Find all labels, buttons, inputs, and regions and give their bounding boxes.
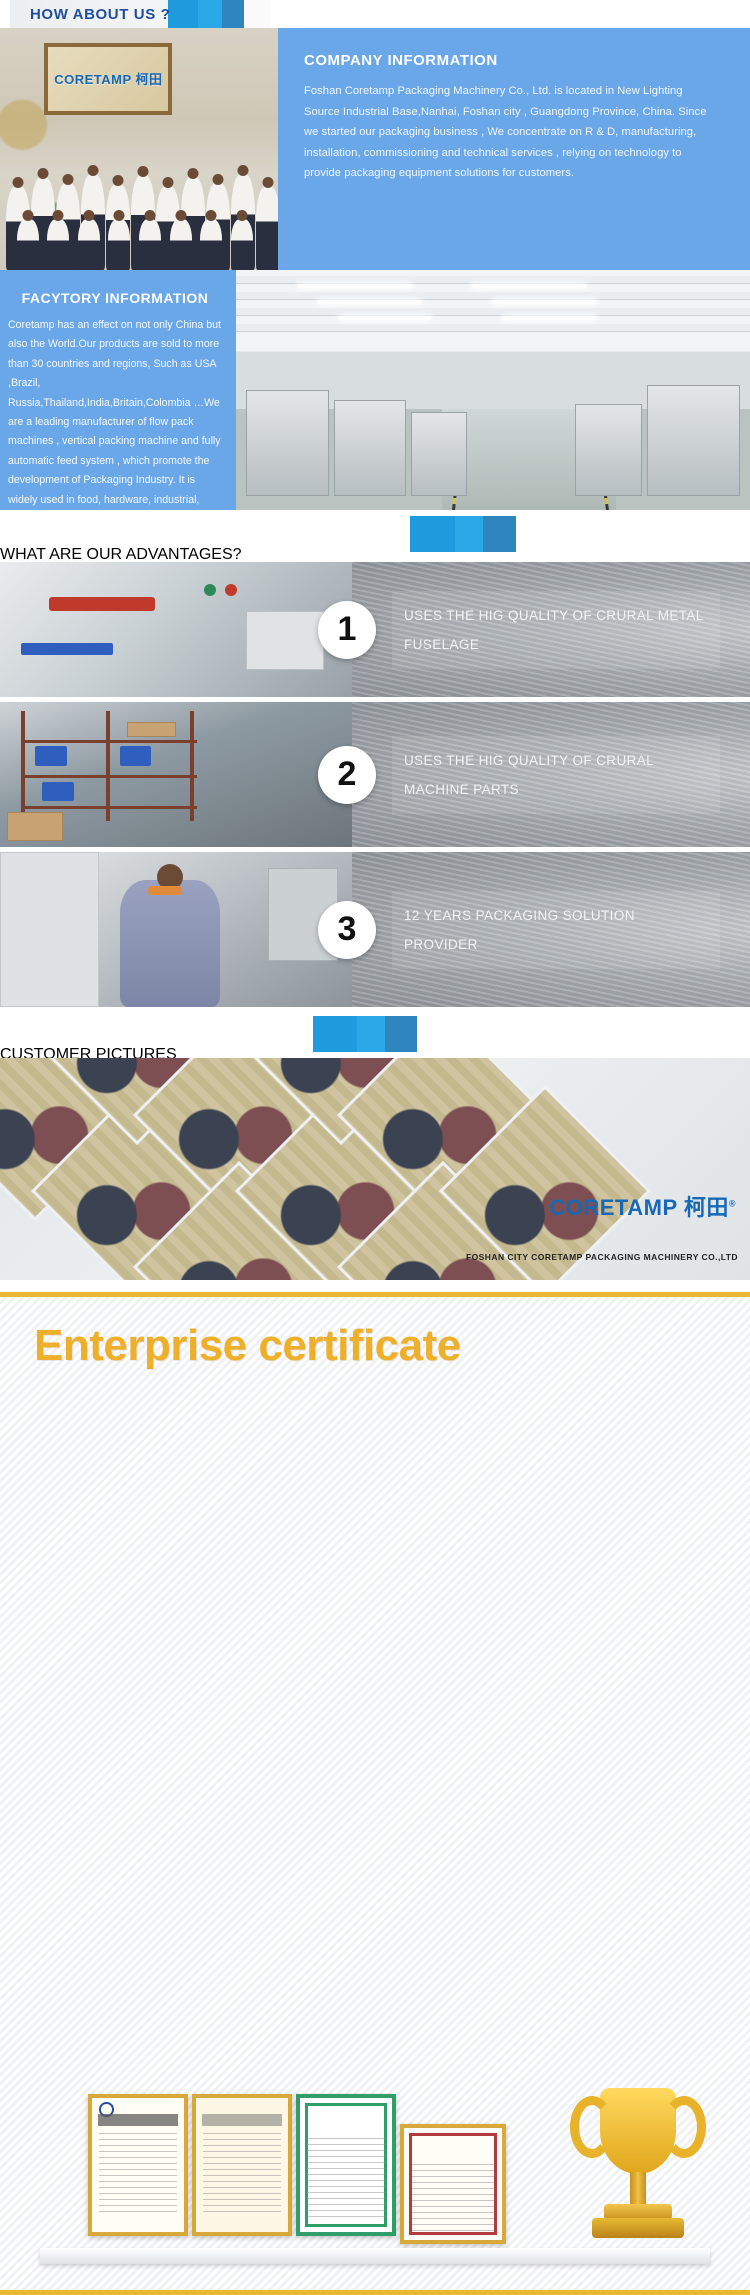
customer-accent-square-2 xyxy=(357,1016,385,1052)
company-information-body: Foshan Coretamp Packaging Machinery Co.,… xyxy=(304,81,720,184)
factory-information-section: FACYTORY INFORMATION Coretamp has an eff… xyxy=(0,270,750,510)
advantage-2-text: USES THE HIG QUALITY OF CRURAL MACHINE P… xyxy=(392,736,720,814)
advantage-1-text: USES THE HIG QUALITY OF CRURAL METAL FUS… xyxy=(392,591,720,669)
company-information-panel: COMPANY INFORMATION Foshan Coretamp Pack… xyxy=(278,28,750,270)
customer-pictures-banner: CUSTOMER PICTURES xyxy=(0,1010,750,1058)
wall-logo-text: CORETAMP 柯田 xyxy=(54,69,162,88)
coretamp-logo: CORETAMP 柯田® xyxy=(549,1190,736,1222)
advantage-row-1: 1 USES THE HIG QUALITY OF CRURAL METAL F… xyxy=(0,562,750,697)
company-information-section: CORETAMP 柯田 COMPANY INFORMATION Fosha xyxy=(0,28,750,270)
factory-information-heading: FACYTORY INFORMATION xyxy=(8,290,222,306)
how-about-us-title: HOW ABOUT US ? xyxy=(30,0,170,28)
certificate-document xyxy=(192,2094,292,2236)
certificate-shelf xyxy=(40,2248,710,2264)
advantages-accent-square-1 xyxy=(410,516,455,552)
advantage-1-panel: 1 USES THE HIG QUALITY OF CRURAL METAL F… xyxy=(352,562,750,697)
factory-interior-photo xyxy=(236,270,750,510)
customer-accent-square-3 xyxy=(385,1016,417,1052)
company-information-heading: COMPANY INFORMATION xyxy=(304,52,720,69)
advantages-banner-background xyxy=(0,510,750,546)
advantages-accent-square-3 xyxy=(483,516,516,552)
wall-logo: CORETAMP 柯田 xyxy=(44,43,172,116)
customer-pictures-collage: CORETAMP 柯田® FOSHAN CITY CORETAMP PACKAG… xyxy=(0,1058,750,1280)
crowd-figures xyxy=(0,120,278,270)
advantage-2-number: 2 xyxy=(318,746,376,804)
advantage-1-number: 1 xyxy=(318,601,376,659)
factory-information-panel: FACYTORY INFORMATION Coretamp has an eff… xyxy=(0,270,236,510)
enterprise-certificate-section: Enterprise certificate xyxy=(0,1292,750,2295)
advantage-row-3: 3 12 YEARS PACKAGING SOLUTION PROVIDER xyxy=(0,852,750,1007)
company-team-photo: CORETAMP 柯田 xyxy=(0,28,278,270)
coretamp-logo-text: CORETAMP 柯田 xyxy=(549,1195,728,1220)
enterprise-certificate-title: Enterprise certificate xyxy=(34,1321,461,1371)
advantage-2-panel: 2 USES THE HIG QUALITY OF CRURAL MACHINE… xyxy=(352,702,750,847)
collage-company-caption: FOSHAN CITY CORETAMP PACKAGING MACHINERY… xyxy=(466,1252,738,1262)
advantages-accent-square-2 xyxy=(455,516,483,552)
customer-accent-square-1 xyxy=(313,1016,357,1052)
advantages-banner: WHAT ARE OUR ADVANTAGES? xyxy=(0,510,750,558)
collage-bottom-spacer xyxy=(0,1280,750,1292)
certificate-document xyxy=(296,2094,396,2236)
advantage-row-2: 2 USES THE HIG QUALITY OF CRURAL MACHINE… xyxy=(0,702,750,847)
advantage-1-photo xyxy=(0,562,352,697)
accent-square-3 xyxy=(222,0,244,28)
accent-square-1 xyxy=(168,0,198,28)
gold-trophy-icon xyxy=(578,2080,698,2250)
advantage-3-panel: 3 12 YEARS PACKAGING SOLUTION PROVIDER xyxy=(352,852,750,1007)
advantage-2-photo xyxy=(0,702,352,847)
registered-mark-icon: ® xyxy=(729,1199,736,1209)
how-about-us-banner: HOW ABOUT US ? xyxy=(0,0,750,28)
certificate-document xyxy=(88,2094,188,2236)
advantage-3-text: 12 YEARS PACKAGING SOLUTION PROVIDER xyxy=(392,891,720,969)
advantage-3-number: 3 xyxy=(318,901,376,959)
accent-square-2 xyxy=(198,0,222,28)
advantage-3-photo xyxy=(0,852,352,1007)
certificate-document xyxy=(400,2124,506,2244)
